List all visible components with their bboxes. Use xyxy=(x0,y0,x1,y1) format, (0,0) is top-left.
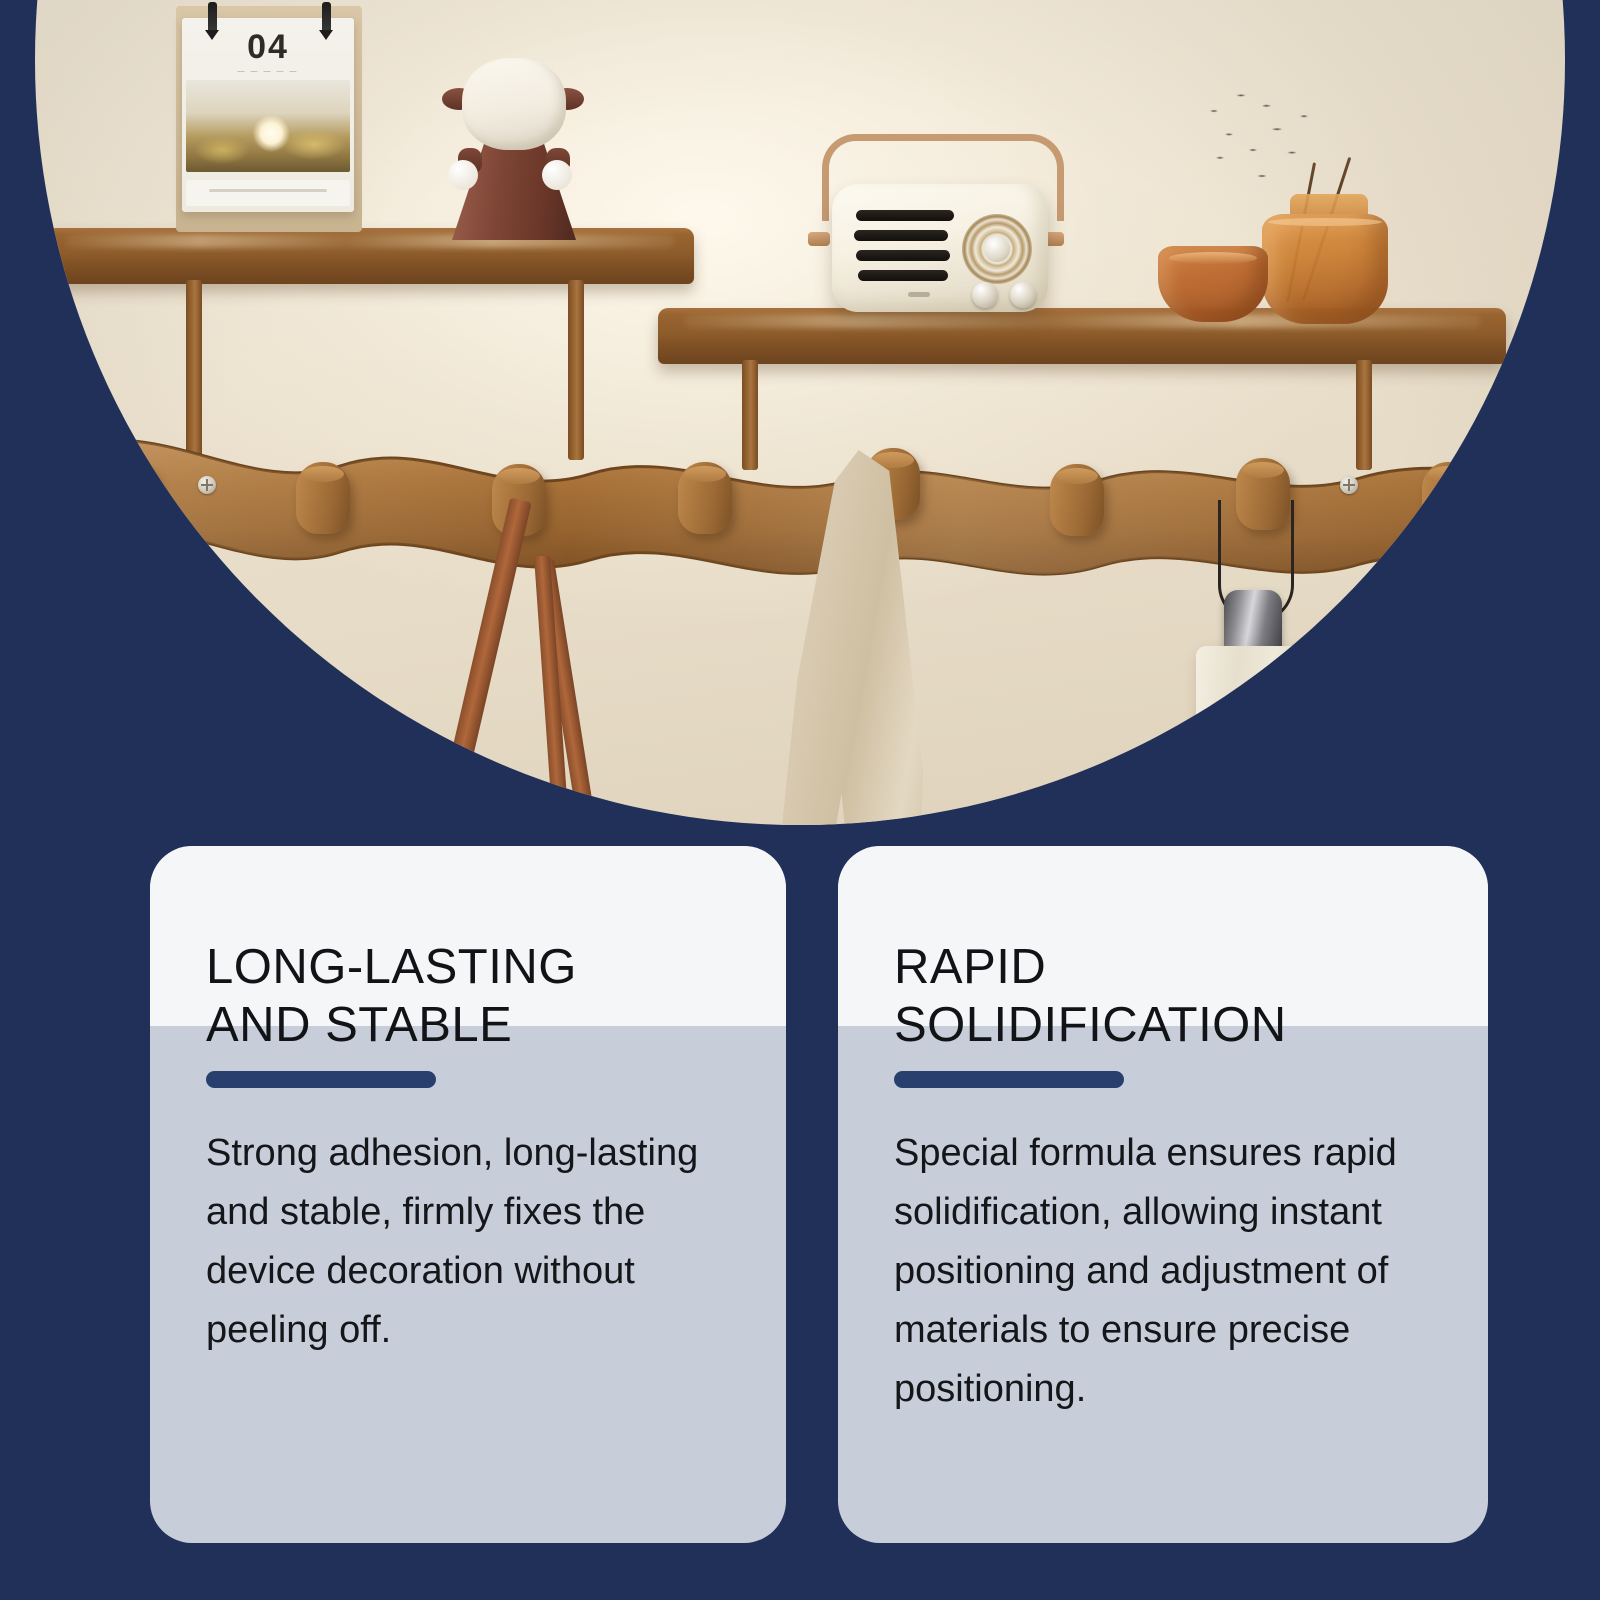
mounting-screw xyxy=(1340,476,1358,494)
card-body-text: Special formula ensures rapid solidifica… xyxy=(894,1124,1442,1419)
calendar-footer xyxy=(186,180,350,206)
rack-peg xyxy=(296,462,350,534)
mounting-screw xyxy=(198,476,216,494)
card-title: RAPID SOLIDIFICATION xyxy=(894,938,1287,1054)
product-feature-page: 04 — — — — — xyxy=(0,0,1600,1600)
card-accent-rule xyxy=(894,1071,1124,1088)
feature-card-long-lasting: LONG-LASTING AND STABLE Strong adhesion,… xyxy=(150,846,786,1543)
calendar-caption: — — — — — xyxy=(182,68,354,75)
rack-peg xyxy=(678,462,732,534)
rack-peg xyxy=(104,460,158,532)
feature-card-rapid-solidification: RAPID SOLIDIFICATION Special formula ens… xyxy=(838,846,1488,1543)
calendar-photo xyxy=(186,80,350,172)
card-title: LONG-LASTING AND STABLE xyxy=(206,938,577,1054)
card-body-text: Strong adhesion, long-lasting and stable… xyxy=(206,1124,740,1360)
rack-board xyxy=(0,430,1600,630)
rack-peg xyxy=(1422,462,1476,534)
rack-peg xyxy=(1050,464,1104,536)
card-accent-rule xyxy=(206,1071,436,1088)
